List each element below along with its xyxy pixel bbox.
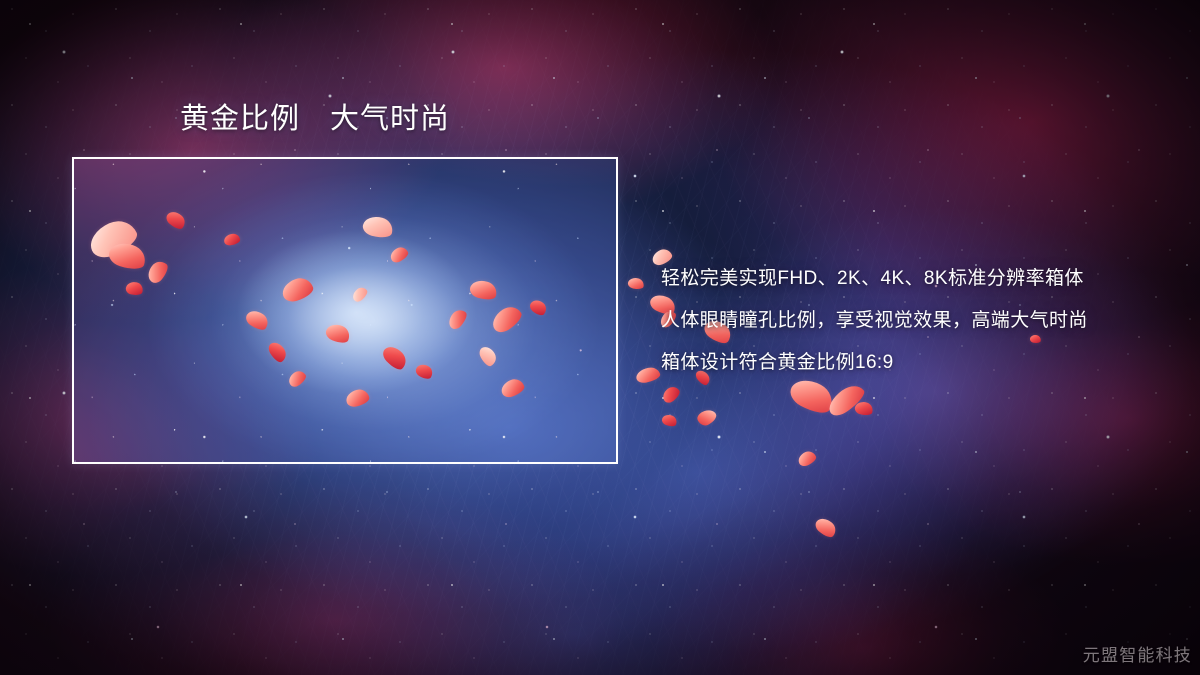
rose-petal <box>527 297 548 318</box>
panel-nebula-base <box>74 159 616 462</box>
rose-petal <box>144 258 170 286</box>
rose-petal <box>223 233 240 247</box>
rose-petal <box>106 239 149 273</box>
slide-title: 黄金比例 大气时尚 <box>180 102 450 137</box>
rose-petal <box>125 281 144 297</box>
display-preview-frame[interactable] <box>72 157 618 464</box>
rose-petal <box>660 384 682 405</box>
rose-petal <box>388 245 410 265</box>
display-preview-content <box>74 159 616 462</box>
rose-petal <box>280 275 316 305</box>
rose-petal <box>824 380 868 420</box>
rose-petal <box>499 377 526 399</box>
rose-petal <box>164 208 188 232</box>
body-line-1: 轻松完美实现FHD、2K、4K、8K标准分辨率箱体 <box>661 258 1181 300</box>
rose-petal <box>813 515 839 541</box>
panel-starfield-small <box>74 159 616 462</box>
rose-petal <box>796 449 818 468</box>
rose-petal <box>243 307 271 333</box>
panel-nebula-blue <box>74 159 616 462</box>
rose-petal <box>286 367 308 388</box>
body-text-block: 轻松完美实现FHD、2K、4K、8K标准分辨率箱体 人体眼睛瞳孔比例，享受视觉效… <box>661 258 1181 384</box>
watermark: 元盟智能科技 <box>1083 641 1192 666</box>
rose-petal <box>350 286 369 305</box>
rose-petal <box>85 214 142 262</box>
panel-nebula-crimson <box>74 159 616 462</box>
rose-petal <box>361 214 395 240</box>
rose-petal <box>695 407 718 428</box>
rose-petal <box>854 400 875 417</box>
panel-starfield-medium <box>74 159 616 462</box>
rose-petal <box>345 388 371 409</box>
rose-petal <box>468 277 499 302</box>
rose-petal <box>446 306 471 331</box>
presentation-slide: 黄金比例 大气时尚 轻松完美实现FHD、2K、4K、8K标准分辨率箱体 人体眼睛… <box>0 0 1200 675</box>
rose-petal <box>627 276 645 290</box>
rose-petal <box>635 366 661 385</box>
rose-petal <box>380 342 410 372</box>
rose-petal <box>488 302 525 336</box>
body-line-3: 箱体设计符合黄金比例16:9 <box>661 342 1181 384</box>
rose-petal <box>414 361 435 381</box>
rose-petal <box>324 321 353 346</box>
panel-nebula-core <box>74 159 616 462</box>
rose-petal <box>661 413 679 428</box>
rose-petal <box>477 344 499 368</box>
body-line-2: 人体眼睛瞳孔比例，享受视觉效果，高端大气时尚 <box>661 300 1181 342</box>
rose-petal <box>266 339 289 365</box>
